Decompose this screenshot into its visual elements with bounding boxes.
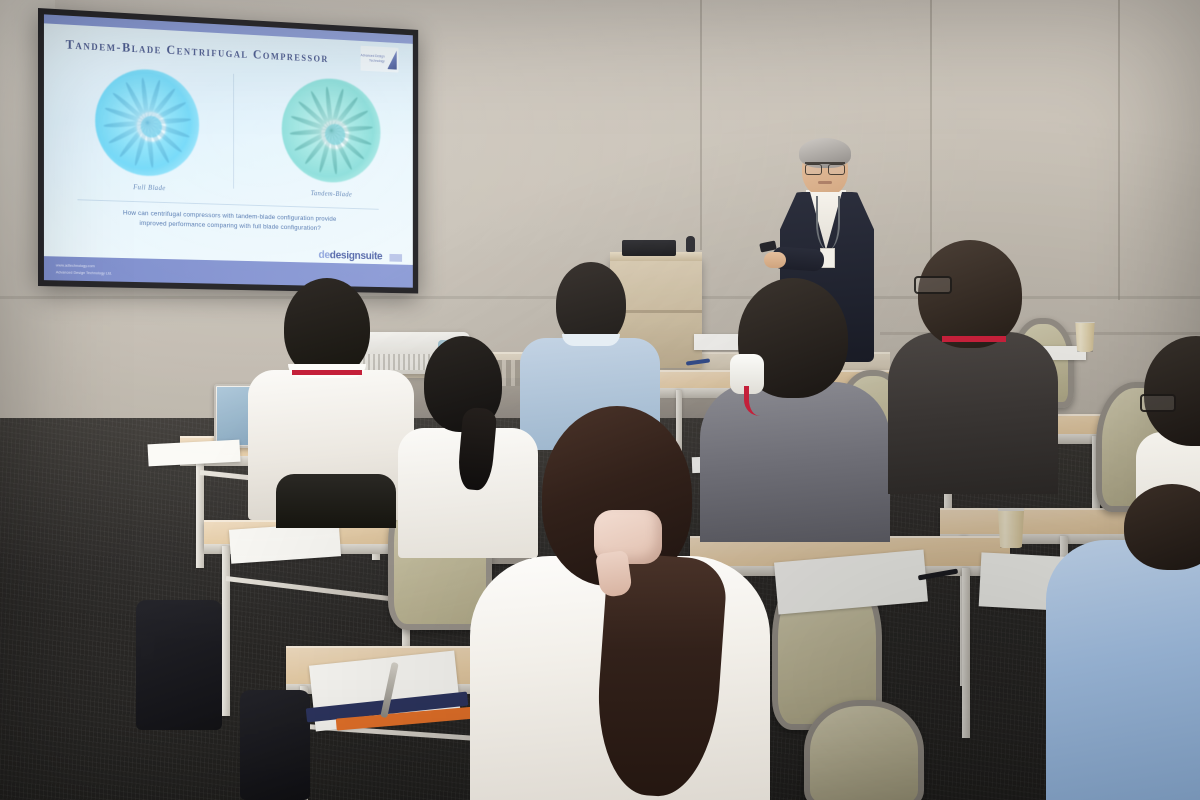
attendee-right-blue-shirt xyxy=(1046,492,1200,800)
designsuite-brand: dedesignsuite xyxy=(319,249,383,262)
lectern-laptop xyxy=(622,240,676,256)
seminar-room-photo: Tandem-Blade Centrifugal Compressor Adva… xyxy=(0,0,1200,800)
full-blade-impeller-figure xyxy=(95,67,199,178)
attendee-dark-suit-glasses xyxy=(888,240,1058,480)
attendee-dark-vest xyxy=(276,474,396,528)
presentation-slide: Tandem-Blade Centrifugal Compressor Adva… xyxy=(44,14,413,287)
glasses-icon xyxy=(914,276,952,294)
attendee-head xyxy=(1144,336,1200,446)
full-blade-label: Full Blade xyxy=(72,181,226,194)
desk-leg xyxy=(962,568,970,738)
glasses-icon xyxy=(805,162,845,173)
lectern-microphone-icon xyxy=(686,236,695,252)
lanyard-icon xyxy=(816,196,840,250)
coffee-cup xyxy=(1074,322,1096,352)
glasses-icon xyxy=(1140,394,1176,412)
brand-prefix: de xyxy=(319,249,330,261)
logo-mark-icon xyxy=(387,50,396,70)
wall-seam xyxy=(700,0,702,250)
slide-caption: How can centrifugal compressors with tan… xyxy=(77,207,378,236)
lanyard-icon xyxy=(942,336,1006,374)
attendee-head xyxy=(284,278,370,378)
figure-divider xyxy=(233,74,234,189)
slide-footer-text: www.adtechnology.com Advanced Design Tec… xyxy=(56,263,112,277)
attendee-collar xyxy=(562,334,620,346)
lanyard-icon xyxy=(292,370,362,391)
projection-screen: Tandem-Blade Centrifugal Compressor Adva… xyxy=(38,8,418,294)
backpack xyxy=(240,690,310,800)
attendee-torso xyxy=(1046,540,1200,800)
presenter-hand xyxy=(764,252,786,268)
attendee-ponytail-woman xyxy=(398,336,538,546)
lanyard-icon xyxy=(744,386,805,416)
chair xyxy=(804,700,924,800)
logo-line-2: Technology xyxy=(361,58,385,64)
coffee-cup xyxy=(996,508,1026,548)
presenter-mouth xyxy=(818,181,832,184)
tandem-blade-label: Tandem-Blade xyxy=(258,188,404,201)
attendee-head xyxy=(918,240,1022,348)
backpack xyxy=(136,600,222,730)
brand-name: designsuite xyxy=(330,250,383,263)
brand-badge-icon xyxy=(390,254,403,262)
company-logo-icon: Advanced Design Technology xyxy=(361,46,399,73)
tandem-blade-impeller-figure xyxy=(282,76,381,184)
desk-leg xyxy=(222,546,230,716)
wall-seam xyxy=(1118,0,1120,300)
footer-company: Advanced Design Technology Ltd. xyxy=(56,269,112,277)
chair-back xyxy=(804,700,924,800)
attendee-front-left-white-shirt xyxy=(248,278,414,508)
attendee-blue-shirt-back-row xyxy=(520,262,660,432)
impeller-figures: Full Blade Tandem-Blade xyxy=(44,58,413,200)
